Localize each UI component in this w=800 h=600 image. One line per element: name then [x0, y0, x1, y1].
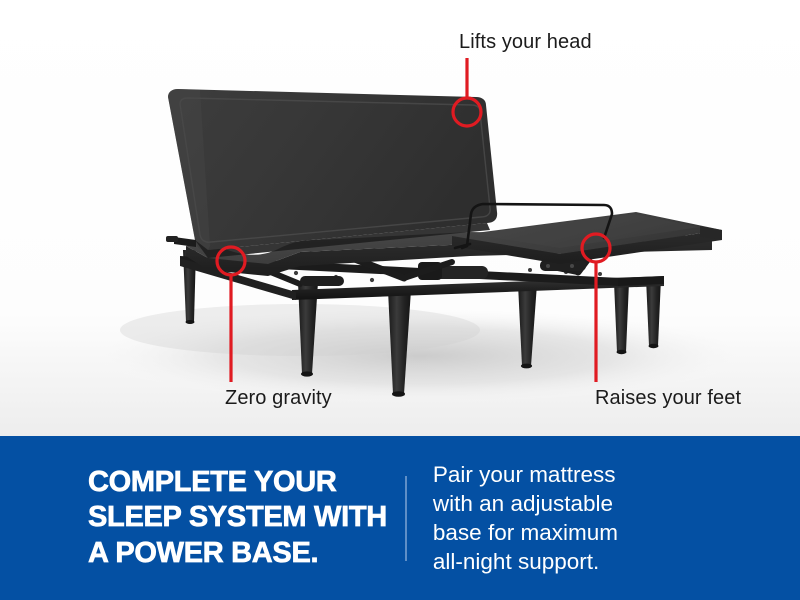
- subcopy-line-1: Pair your mattress: [433, 460, 766, 489]
- adjustable-bed-base-illustration: [0, 0, 800, 436]
- subcopy-line-2: with an adjustable: [433, 489, 766, 518]
- banner-subcopy: Pair your mattress with an adjustable ba…: [433, 460, 766, 577]
- banner-divider: [405, 476, 407, 561]
- headline-line-2: Sleep system with: [88, 500, 387, 535]
- callout-label-zero-gravity: Zero gravity: [225, 387, 332, 410]
- callout-label-lifts-your-head: Lifts your head: [459, 31, 592, 54]
- subcopy-line-3: base for maximum: [433, 518, 766, 547]
- headline-line-1: Complete your: [88, 465, 387, 500]
- banner-content: Complete your Sleep system with a power …: [0, 460, 800, 577]
- promo-banner: Complete your Sleep system with a power …: [0, 436, 800, 600]
- promo-banner-image: Lifts your head Zero gravity Raises your…: [0, 0, 800, 600]
- head-panel: [166, 89, 497, 258]
- banner-headline: Complete your Sleep system with a power …: [88, 465, 405, 571]
- product-photo: Lifts your head Zero gravity Raises your…: [0, 0, 800, 436]
- callout-label-raises-your-feet: Raises your feet: [595, 387, 741, 410]
- subcopy-line-4: all-night support.: [433, 547, 766, 576]
- headline-line-3: a power base.: [88, 536, 387, 571]
